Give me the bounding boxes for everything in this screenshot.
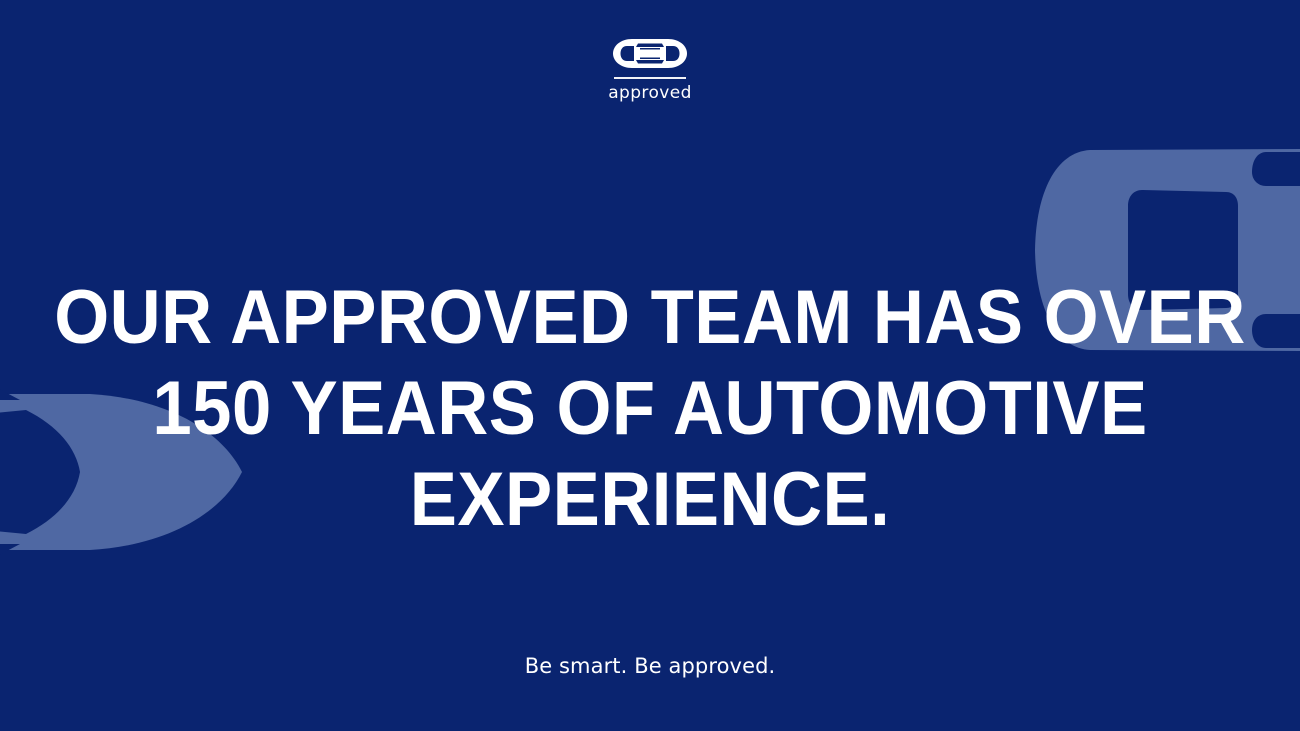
page-title: OUR APPROVED TEAM HAS OVER 150 YEARS OF … (46, 272, 1255, 545)
car-top-view-icon (612, 38, 688, 69)
brand-logo: approved (0, 38, 1300, 102)
headline-line-2: 150 YEARS OF AUTOMOTIVE (46, 363, 1255, 454)
headline-line-1: OUR APPROVED TEAM HAS OVER (46, 272, 1255, 363)
slide-canvas: approved OUR APPROVED TEAM HAS OVER 150 … (0, 0, 1300, 731)
tagline: Be smart. Be approved. (0, 654, 1300, 679)
headline-line-3: EXPERIENCE. (46, 454, 1255, 545)
logo-divider (614, 77, 686, 79)
logo-wordmark: approved (608, 85, 692, 102)
